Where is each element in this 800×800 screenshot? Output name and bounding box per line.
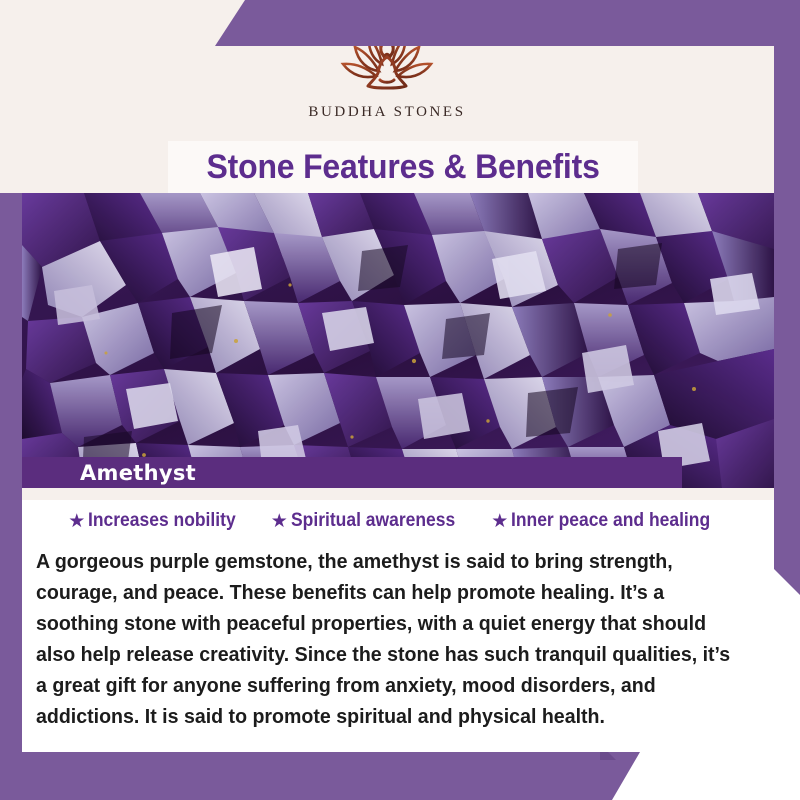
- benefit-item: ★ Inner peace and healing: [491, 510, 728, 532]
- frame-top-accent: [215, 0, 800, 46]
- stone-name: Amethyst: [80, 461, 196, 485]
- page-title-plate: Stone Features & Benefits: [168, 141, 638, 193]
- content-bottom-pad: [22, 744, 774, 752]
- content-top-strip: [22, 488, 774, 500]
- infographic-page: BUDDHA STONES Stone Features & Benefits: [0, 0, 800, 800]
- benefit-label: Increases nobility: [88, 510, 236, 532]
- benefit-label: Spiritual awareness: [291, 510, 455, 532]
- benefit-item: ★ Increases nobility: [68, 510, 249, 532]
- star-icon: ★: [68, 512, 85, 531]
- brand-name: BUDDHA STONES: [0, 104, 774, 121]
- star-icon: ★: [271, 512, 288, 531]
- benefits-list: ★ Increases nobility ★ Spiritual awarene…: [22, 510, 774, 532]
- benefit-label: Inner peace and healing: [511, 510, 710, 532]
- content-section: ★ Increases nobility ★ Spiritual awarene…: [22, 488, 774, 752]
- frame-left-accent: [0, 193, 22, 800]
- stone-name-banner: Amethyst: [22, 457, 682, 488]
- benefit-item: ★ Spiritual awareness: [271, 510, 470, 532]
- frame-right-accent: [774, 0, 800, 595]
- stone-description: A gorgeous purple gemstone, the amethyst…: [36, 546, 737, 732]
- frame-bottom-accent: [0, 752, 640, 800]
- amethyst-photo: Amethyst: [22, 193, 774, 488]
- amethyst-crystal-illustration: [22, 193, 774, 488]
- page-title: Stone Features & Benefits: [206, 148, 599, 187]
- star-icon: ★: [491, 512, 508, 531]
